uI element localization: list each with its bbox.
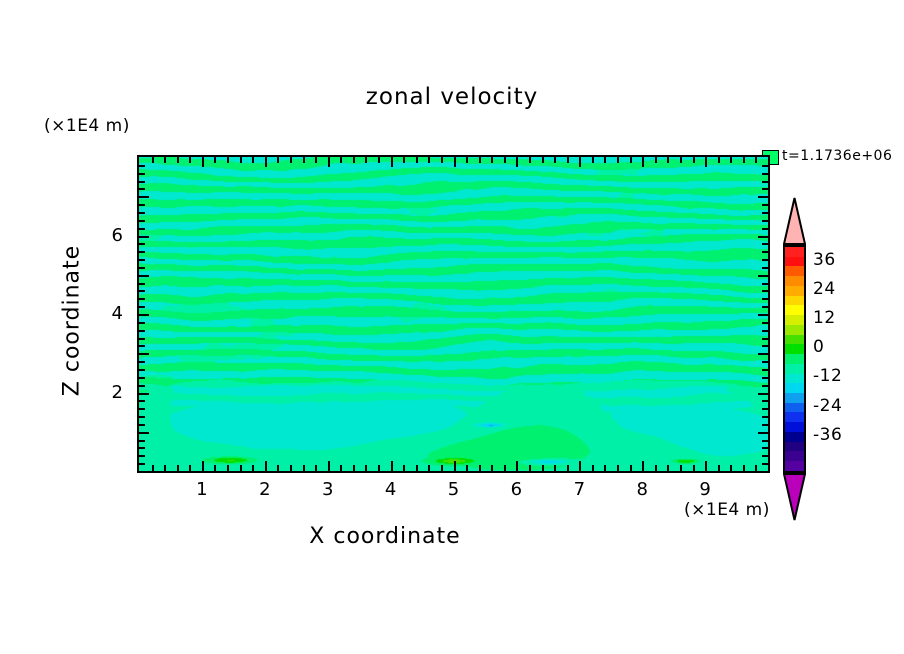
x-tick [516,461,518,471]
colorbar-tick-label: 0 [813,337,824,357]
x-tick [340,465,342,471]
x-tick-top [227,157,229,163]
x-tick-label: 7 [564,479,594,500]
y-tick [139,212,145,214]
x-tick [542,465,544,471]
colorbar-band [785,266,804,276]
x-tick-label: 5 [439,479,469,500]
colorbar-band [785,403,804,413]
x-tick [277,465,279,471]
x-tick-label: 8 [627,479,657,500]
x-tick [567,465,569,471]
y-tick-right [762,267,768,269]
x-tick-top [567,157,569,163]
x-tick [328,461,330,471]
x-axis-title: X coordinate [0,524,770,549]
x-tick-top [529,157,531,163]
x-tick [454,461,456,471]
y-tick [139,393,149,395]
colorbar-band [785,364,804,374]
x-tick-top [642,157,644,167]
y-tick [139,283,145,285]
colorbar-band [785,412,804,422]
x-tick-top [428,157,430,163]
x-tick-top [265,157,267,167]
x-tick-top [290,157,292,163]
colorbar-tick-label: -36 [813,425,842,445]
y-tick-right [758,353,768,355]
colorbar-band [785,393,804,403]
x-tick [240,465,242,471]
x-tick-top [252,157,254,163]
y-tick-right [762,440,768,442]
y-tick [139,188,145,190]
y-tick-right [762,385,768,387]
colorbar-tick-label: -24 [813,396,842,416]
colorbar-band [785,422,804,432]
y-tick [139,424,145,426]
x-tick-top [214,157,216,163]
x-tick-top [202,157,204,167]
x-tick [554,465,556,471]
x-tick [428,465,430,471]
colorbar-band [785,315,804,325]
x-tick-label: 2 [250,479,280,500]
colorbar-band [785,296,804,306]
y-tick-right [762,204,768,206]
y-tick-right [762,259,768,261]
x-tick [177,465,179,471]
y-tick [139,236,149,238]
y-tick [139,243,145,245]
x-axis-units-label: (×1E4 m) [684,500,770,520]
y-tick-right [762,338,768,340]
y-tick [139,369,145,371]
y-tick [139,220,145,222]
colorbar-band [785,354,804,364]
y-tick-right [758,314,768,316]
x-tick-top [554,157,556,163]
y-axis-title: Z coordinate [60,191,85,451]
y-tick [139,306,145,308]
y-tick [139,377,145,379]
x-tick [378,465,380,471]
x-tick [667,465,669,471]
x-tick [252,465,254,471]
x-tick [604,465,606,471]
y-tick-right [762,361,768,363]
x-tick-top [504,157,506,163]
y-axis-units-label: (×1E4 m) [44,116,130,136]
x-tick-top [542,157,544,163]
y-tick [139,432,149,434]
y-tick-right [762,228,768,230]
x-tick [592,465,594,471]
x-tick-top [328,157,330,167]
y-tick-right [762,290,768,292]
x-tick-top [189,157,191,163]
y-tick-right [758,196,768,198]
x-tick [617,465,619,471]
x-tick-top [416,157,418,163]
x-tick-top [680,157,682,163]
x-tick-top [768,157,770,167]
x-tick [189,465,191,471]
y-tick-right [762,424,768,426]
x-tick-top [479,157,481,163]
y-tick [139,267,145,269]
plot-area [137,155,770,473]
x-tick [579,461,581,471]
colorbar-band [785,305,804,315]
x-tick-top [693,157,695,163]
x-tick-top [705,157,707,167]
y-tick [139,181,145,183]
colorbar-band [785,451,804,461]
x-tick-top [592,157,594,163]
y-tick [139,440,145,442]
y-tick [139,228,145,230]
y-tick [139,361,145,363]
y-tick-right [762,455,768,457]
x-tick [303,465,305,471]
y-tick-right [762,298,768,300]
x-tick [353,465,355,471]
y-tick [139,385,145,387]
y-tick-right [762,447,768,449]
x-tick-top [655,157,657,163]
x-tick-label: 3 [313,479,343,500]
x-tick [202,461,204,471]
x-tick-label: 9 [690,479,720,500]
x-tick [655,465,657,471]
y-tick-label: 4 [93,303,123,324]
figure-canvas: zonal velocity (×1E4 m) (×1E4 m) t=1.173… [0,0,904,654]
y-tick [139,173,145,175]
y-tick-right [762,188,768,190]
x-tick-top [403,157,405,163]
y-tick-right [758,393,768,395]
y-tick [139,408,145,410]
x-tick-top [454,157,456,167]
x-tick-top [743,157,745,163]
y-tick-right [762,377,768,379]
y-tick [139,447,145,449]
y-tick [139,345,145,347]
y-tick [139,251,145,253]
x-tick-top [730,157,732,163]
x-tick-top [604,157,606,163]
x-tick [743,465,745,471]
y-tick-right [762,165,768,167]
y-tick [139,330,145,332]
x-tick-top [177,157,179,163]
y-tick-right [762,212,768,214]
y-tick-right [762,306,768,308]
x-tick [391,461,393,471]
y-tick [139,165,145,167]
colorbar-band [785,247,804,257]
x-tick [403,465,405,471]
x-tick-top [516,157,518,167]
y-tick-label: 2 [93,382,123,403]
x-tick [693,465,695,471]
x-tick [466,465,468,471]
x-tick-top [340,157,342,163]
x-tick [491,465,493,471]
x-tick-label: 1 [187,479,217,500]
x-tick [227,465,229,471]
x-tick [214,465,216,471]
colorbar-tick-label: 12 [813,308,836,328]
colorbar-band [785,286,804,296]
y-tick-right [758,275,768,277]
y-tick-right [762,243,768,245]
x-tick-top [164,157,166,163]
y-tick-right [762,400,768,402]
y-tick-right [762,408,768,410]
x-tick [680,465,682,471]
y-tick [139,259,145,261]
y-tick [139,455,145,457]
x-tick [755,465,757,471]
y-tick-right [762,173,768,175]
x-tick-top [667,157,669,163]
x-tick-top [315,157,317,163]
x-tick-top [152,157,154,163]
y-tick [139,298,145,300]
page-title: zonal velocity [0,84,904,110]
x-tick-label: 4 [376,479,406,500]
x-tick [164,465,166,471]
y-tick-right [762,330,768,332]
y-tick [139,204,145,206]
y-tick [139,416,145,418]
y-tick-right [762,463,768,465]
y-tick [139,353,149,355]
y-tick [139,275,149,277]
colorbar: 3624120-12-24-36 [779,197,813,522]
colorbar-band [785,374,804,384]
x-tick [630,465,632,471]
x-tick-top [491,157,493,163]
x-tick [290,465,292,471]
x-tick [265,461,267,471]
x-tick [768,461,770,471]
y-tick [139,463,145,465]
y-tick [139,290,145,292]
colorbar-band [785,344,804,354]
x-tick [315,465,317,471]
x-tick [642,461,644,471]
colorbar-band [785,432,804,442]
y-tick [139,196,149,198]
x-tick-top [466,157,468,163]
x-tick-label: 6 [501,479,531,500]
contour-field [139,157,768,471]
x-tick-top [755,157,757,163]
x-tick [718,465,720,471]
x-tick-top [617,157,619,163]
colorbar-tick-label: 36 [813,250,836,270]
y-tick [139,322,145,324]
x-tick [529,465,531,471]
colorbar-band [785,442,804,452]
x-tick-top [240,157,242,163]
y-tick-right [762,322,768,324]
x-tick-top [579,157,581,167]
y-tick-right [762,220,768,222]
x-tick [365,465,367,471]
y-tick-right [762,369,768,371]
x-tick-top [277,157,279,163]
colorbar-band [785,461,804,471]
x-tick [152,465,154,471]
colorbar-tick-label: 24 [813,279,836,299]
colorbar-band [785,325,804,335]
time-annotation: t=1.1736e+06 [782,148,892,164]
y-tick-right [762,283,768,285]
y-tick-right [762,181,768,183]
colorbar-tick-label: -12 [813,366,842,386]
y-tick-right [762,416,768,418]
colorbar-over-cap [783,197,806,245]
colorbar-band [785,276,804,286]
y-tick [139,400,145,402]
x-tick-top [718,157,720,163]
x-tick [441,465,443,471]
x-tick [705,461,707,471]
x-tick-top [391,157,393,167]
colorbar-band [785,257,804,267]
x-tick [730,465,732,471]
y-tick-right [762,251,768,253]
y-tick-right [762,345,768,347]
x-tick-top [441,157,443,163]
x-tick-top [353,157,355,163]
x-tick-top [378,157,380,163]
colorbar-band [785,335,804,345]
x-tick-top [630,157,632,163]
colorbar-bands [783,245,806,473]
x-tick-top [303,157,305,163]
y-tick-right [758,432,768,434]
colorbar-band [785,383,804,393]
y-tick-right [758,236,768,238]
y-tick [139,314,149,316]
x-tick [504,465,506,471]
x-tick [416,465,418,471]
y-tick-label: 6 [93,225,123,246]
y-tick [139,338,145,340]
x-tick [479,465,481,471]
colorbar-under-cap [783,473,806,521]
x-tick-top [365,157,367,163]
